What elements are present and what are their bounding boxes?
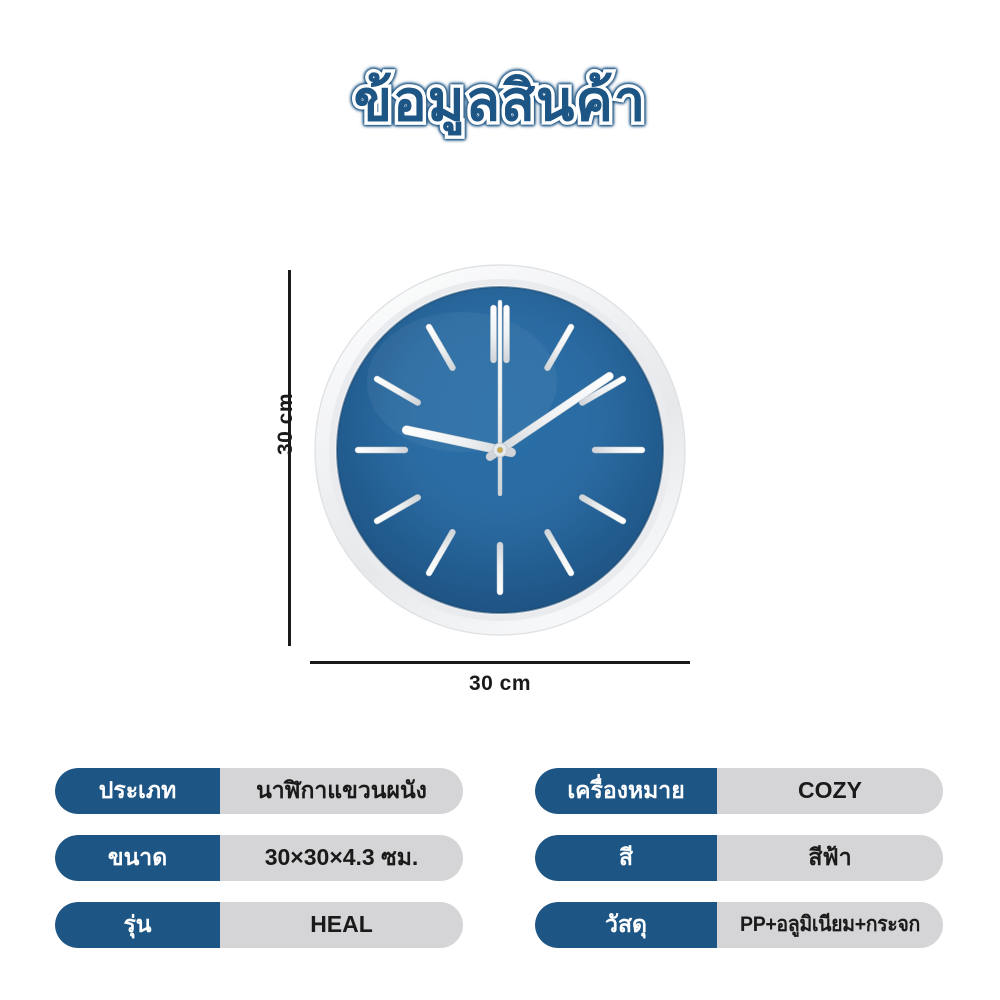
spec-row-size: ขนาด 30×30×4.3 ซม.: [55, 835, 463, 881]
spec-row-material: วัสดุ PP+อลูมิเนียม+กระจก: [535, 902, 943, 948]
spec-label-brand: เครื่องหมาย: [535, 768, 717, 814]
spec-value-color: สีฟ้า: [717, 835, 943, 881]
dimension-label-width: 30 cm: [400, 672, 600, 696]
spec-label-color: สี: [535, 835, 717, 881]
spec-value-brand: COZY: [717, 768, 943, 814]
spec-value-model: HEAL: [220, 902, 463, 948]
dimension-line-horizontal: [310, 661, 690, 664]
product-dimension-area: 30 cm 30 cm: [0, 0, 1000, 720]
dimension-label-height: 30 cm: [274, 364, 298, 484]
wall-clock-photo: [312, 262, 688, 638]
spec-row-color: สี สีฟ้า: [535, 835, 943, 881]
spec-row-model: รุ่น HEAL: [55, 902, 463, 948]
spec-column-left: ประเภท นาฬิกาแขวนผนัง ขนาด 30×30×4.3 ซม.…: [55, 768, 463, 969]
spec-column-right: เครื่องหมาย COZY สี สีฟ้า วัสดุ PP+อลูมิ…: [535, 768, 943, 969]
spec-row-brand: เครื่องหมาย COZY: [535, 768, 943, 814]
spec-value-size: 30×30×4.3 ซม.: [220, 835, 463, 881]
spec-value-material: PP+อลูมิเนียม+กระจก: [725, 902, 935, 948]
spec-label-model: รุ่น: [55, 902, 220, 948]
spec-value-type: นาฬิกาแขวนผนัง: [220, 768, 463, 814]
spec-label-size: ขนาด: [55, 835, 220, 881]
spec-row-type: ประเภท นาฬิกาแขวนผนัง: [55, 768, 463, 814]
spec-label-material: วัสดุ: [535, 902, 717, 948]
spec-label-type: ประเภท: [55, 768, 220, 814]
